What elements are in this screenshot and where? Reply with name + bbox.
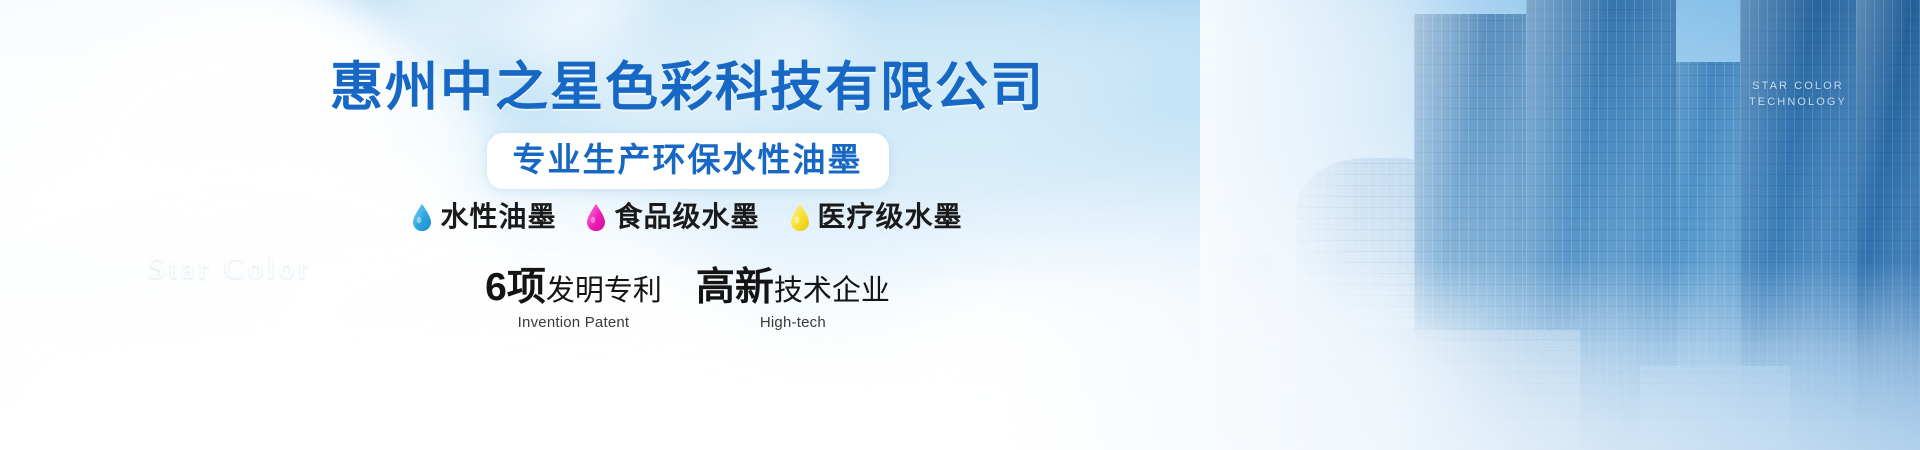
credential-list: 6项发明专利 Invention Patent 高新技术企业 High-tech: [0, 267, 1375, 333]
ink-product-label: 医疗级水墨: [818, 200, 963, 234]
water-drop-icon: [586, 204, 606, 231]
credential-cn-rest: 技术企业: [774, 275, 890, 307]
credential-cn: 高新技术企业: [696, 267, 890, 312]
credential-cn: 6项发明专利: [485, 267, 662, 312]
credential-item: 高新技术企业 High-tech: [696, 267, 890, 333]
ink-product-label: 水性油墨: [440, 200, 556, 234]
credential-en: High-tech: [696, 313, 890, 333]
credential-cn-highlight: 高新: [696, 266, 774, 309]
ink-product-item: 食品级水墨: [586, 200, 759, 234]
water-drop-icon: [412, 204, 432, 231]
ink-product-item: 水性油墨: [412, 200, 556, 234]
credential-cn-highlight: 6项: [485, 266, 546, 309]
ink-product-item: 医疗级水墨: [790, 200, 963, 234]
credential-cn-rest: 发明专利: [546, 275, 662, 307]
company-title: 惠州中之星色彩科技有限公司: [0, 57, 1375, 119]
ink-product-label: 食品级水墨: [614, 200, 759, 234]
water-drop-icon: [790, 204, 810, 231]
banner-content: 惠州中之星色彩科技有限公司 专业生产环保水性油墨 水性油墨: [0, 0, 1375, 450]
ink-product-list: 水性油墨 食品级水墨: [0, 200, 1375, 234]
subtitle-badge: 专业生产环保水性油墨: [487, 133, 889, 189]
credential-item: 6项发明专利 Invention Patent: [485, 267, 662, 333]
promotional-banner: STAR COLOR TECHNOLOGY Star Color 惠州中之星色彩…: [0, 0, 1920, 450]
credential-en: Invention Patent: [485, 313, 662, 333]
subtitle-badge-wrapper: 专业生产环保水性油墨: [0, 133, 1375, 189]
